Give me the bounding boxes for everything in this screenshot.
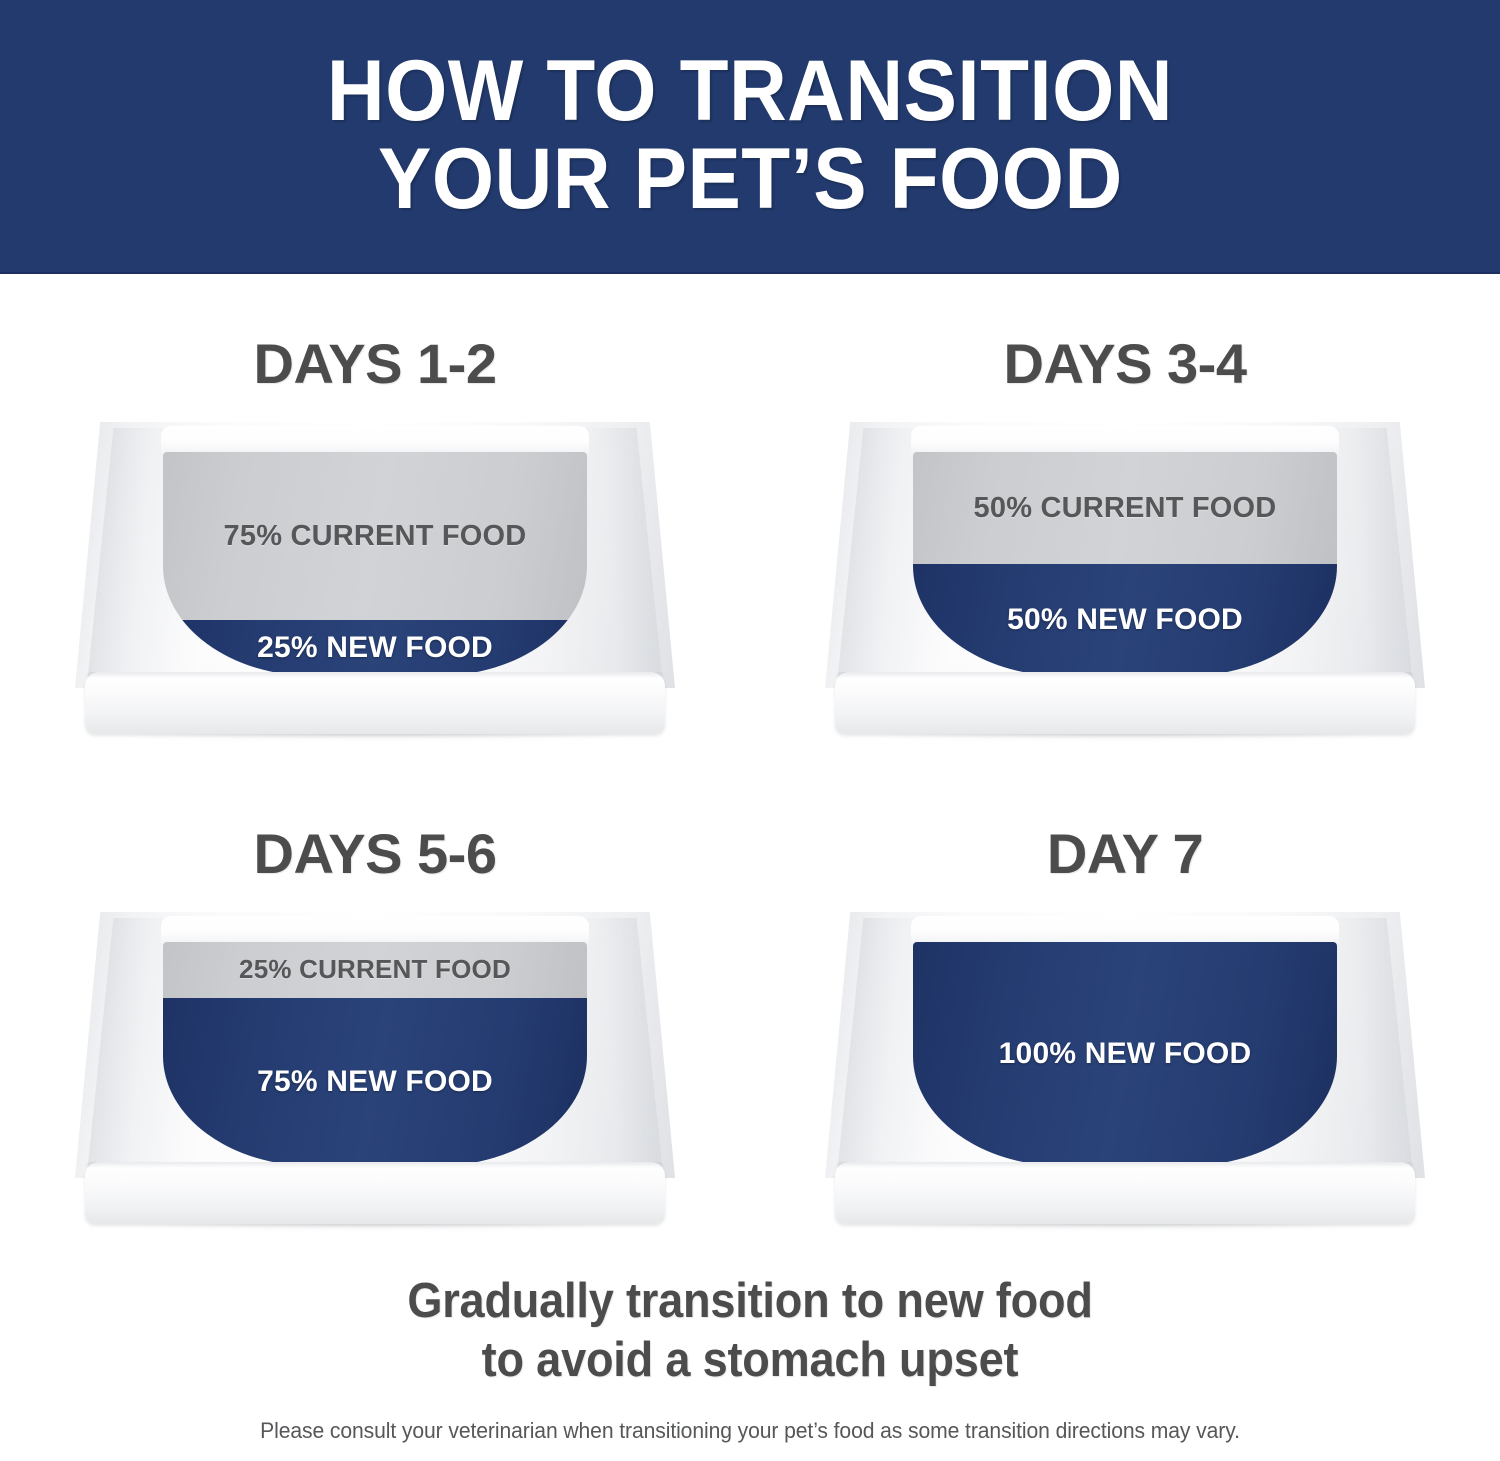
- new-food-portion: 100% NEW FOOD: [913, 942, 1337, 1166]
- step-day-title: DAY 7: [1047, 826, 1203, 882]
- current-food-portion: 75% CURRENT FOOD: [163, 452, 587, 620]
- new-food-label: 100% NEW FOOD: [989, 1037, 1262, 1071]
- infographic-page: HOW TO TRANSITION YOUR PET’S FOOD DAYS 1…: [0, 0, 1500, 1461]
- tagline-line-1: Gradually transition to new food: [60, 1272, 1440, 1331]
- current-food-portion: 50% CURRENT FOOD: [913, 452, 1337, 564]
- current-food-label: 75% CURRENT FOOD: [214, 520, 537, 552]
- pet-food-bowl: 100% NEW FOOD: [825, 912, 1425, 1230]
- pet-food-bowl: 50% CURRENT FOOD 50% NEW FOOD: [825, 422, 1425, 740]
- step-day-title: DAYS 1-2: [254, 336, 497, 392]
- new-food-label: 50% NEW FOOD: [997, 603, 1253, 637]
- step-day-title: DAYS 3-4: [1004, 336, 1247, 392]
- new-food-portion: 25% NEW FOOD: [163, 620, 587, 676]
- current-food-label: 25% CURRENT FOOD: [229, 955, 521, 984]
- tagline: Gradually transition to new food to avoi…: [0, 1272, 1500, 1390]
- bowl-food-area: 25% CURRENT FOOD 75% NEW FOOD: [163, 942, 587, 1166]
- pet-food-bowl: 75% CURRENT FOOD 25% NEW FOOD: [75, 422, 675, 740]
- bowl-base: [835, 1162, 1415, 1224]
- bowl-base: [85, 672, 665, 734]
- new-food-portion: 75% NEW FOOD: [163, 998, 587, 1166]
- bowl-food-area: 75% CURRENT FOOD 25% NEW FOOD: [163, 452, 587, 676]
- pet-food-bowl: 25% CURRENT FOOD 75% NEW FOOD: [75, 912, 675, 1230]
- bowl-base: [85, 1162, 665, 1224]
- bowl-base: [835, 672, 1415, 734]
- banner-title-line-2: YOUR PET’S FOOD: [378, 136, 1123, 224]
- banner-title-line-1: HOW TO TRANSITION: [327, 48, 1173, 136]
- transition-step-days-3-4: DAYS 3-4 50% CURRENT FOOD 50% NEW FOOD: [750, 274, 1500, 764]
- current-food-label: 50% CURRENT FOOD: [964, 492, 1287, 524]
- transition-step-days-5-6: DAYS 5-6 25% CURRENT FOOD 75% NEW FOOD: [0, 764, 750, 1254]
- new-food-label: 75% NEW FOOD: [247, 1065, 503, 1099]
- transition-steps-grid: DAYS 1-2 75% CURRENT FOOD 25% NEW FOOD: [0, 274, 1500, 1254]
- transition-step-days-1-2: DAYS 1-2 75% CURRENT FOOD 25% NEW FOOD: [0, 274, 750, 764]
- tagline-line-2: to avoid a stomach upset: [60, 1331, 1440, 1390]
- transition-step-day-7: DAY 7 100% NEW FOOD: [750, 764, 1500, 1254]
- current-food-portion: 25% CURRENT FOOD: [163, 942, 587, 998]
- new-food-label: 25% NEW FOOD: [247, 631, 503, 665]
- new-food-portion: 50% NEW FOOD: [913, 564, 1337, 676]
- step-day-title: DAYS 5-6: [254, 826, 497, 882]
- bowl-food-area: 100% NEW FOOD: [913, 942, 1337, 1166]
- bowl-food-area: 50% CURRENT FOOD 50% NEW FOOD: [913, 452, 1337, 676]
- disclaimer-text: Please consult your veterinarian when tr…: [30, 1418, 1470, 1444]
- header-banner: HOW TO TRANSITION YOUR PET’S FOOD: [0, 0, 1500, 274]
